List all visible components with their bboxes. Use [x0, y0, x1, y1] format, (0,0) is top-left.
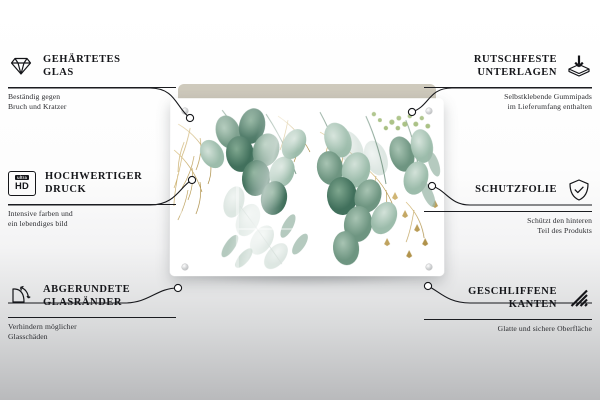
feature-title: GESCHLIFFENEKANTEN [424, 285, 557, 312]
feature-protective-film: SCHUTZFOLIE Schützt den hinterenTeil des… [424, 172, 592, 237]
corner-pad [182, 264, 188, 270]
feature-non-slip-pads: RUTSCHFESTEUNTERLAGEN Selbstklebende Gum… [424, 48, 592, 113]
divider [424, 319, 592, 320]
feature-description: Beständig gegenBruch und Kratzer [8, 92, 176, 113]
corner-pad [426, 264, 432, 270]
ultra-hd-badge-icon: ultra HD [8, 171, 36, 196]
feature-description: Schützt den hinterenTeil des Produkts [424, 216, 592, 237]
divider [424, 211, 592, 212]
product-image [170, 84, 444, 292]
divider [8, 204, 176, 205]
feature-title: ABGERUNDETEGLASRÄNDER [43, 283, 176, 310]
feature-heading-row: RUTSCHFESTEUNTERLAGEN [424, 48, 592, 84]
infographic-canvas: GEHÄRTETESGLAS Beständig gegenBruch und … [0, 0, 600, 400]
glass-board-surface [170, 98, 445, 276]
eucalyptus-artwork [170, 98, 445, 276]
feature-heading-row: GEHÄRTETESGLAS [8, 48, 176, 84]
press-down-pad-icon [566, 53, 592, 79]
feature-rounded-glass-edges: ABGERUNDETEGLASRÄNDER Verhindern möglich… [8, 278, 176, 343]
feature-high-quality-print: ultra HD HOCHWERTIGERDRUCK Intensive far… [8, 165, 176, 230]
divider [8, 87, 176, 88]
rounded-corner-icon [8, 283, 34, 309]
divider [424, 87, 592, 88]
feature-polished-edges: GESCHLIFFENEKANTEN Glatte und sichere Ob… [424, 280, 592, 334]
diagonal-hatch-icon [566, 285, 592, 311]
feature-description: Intensive farben undein lebendiges bild [8, 209, 176, 230]
feature-title: SCHUTZFOLIE [424, 183, 557, 197]
diamond-icon [8, 53, 34, 79]
shield-check-icon [566, 177, 592, 203]
hd-label: HD [15, 181, 29, 190]
feature-heading-row: SCHUTZFOLIE [424, 172, 592, 208]
corner-pad [182, 108, 188, 114]
feature-title: GEHÄRTETESGLAS [43, 53, 176, 80]
divider [8, 317, 176, 318]
feature-heading-row: ABGERUNDETEGLASRÄNDER [8, 278, 176, 314]
feature-heading-row: GESCHLIFFENEKANTEN [424, 280, 592, 316]
feature-description: Selbstklebende Gummipadsim Lieferumfang … [424, 92, 592, 113]
feature-description: Glatte und sichere Oberfläche [424, 324, 592, 334]
feature-title: RUTSCHFESTEUNTERLAGEN [424, 53, 557, 80]
feature-description: Verhindern möglicherGlasschäden [8, 322, 176, 343]
feature-heading-row: ultra HD HOCHWERTIGERDRUCK [8, 165, 176, 201]
feature-tempered-glass: GEHÄRTETESGLAS Beständig gegenBruch und … [8, 48, 176, 113]
feature-title: HOCHWERTIGERDRUCK [45, 170, 176, 197]
